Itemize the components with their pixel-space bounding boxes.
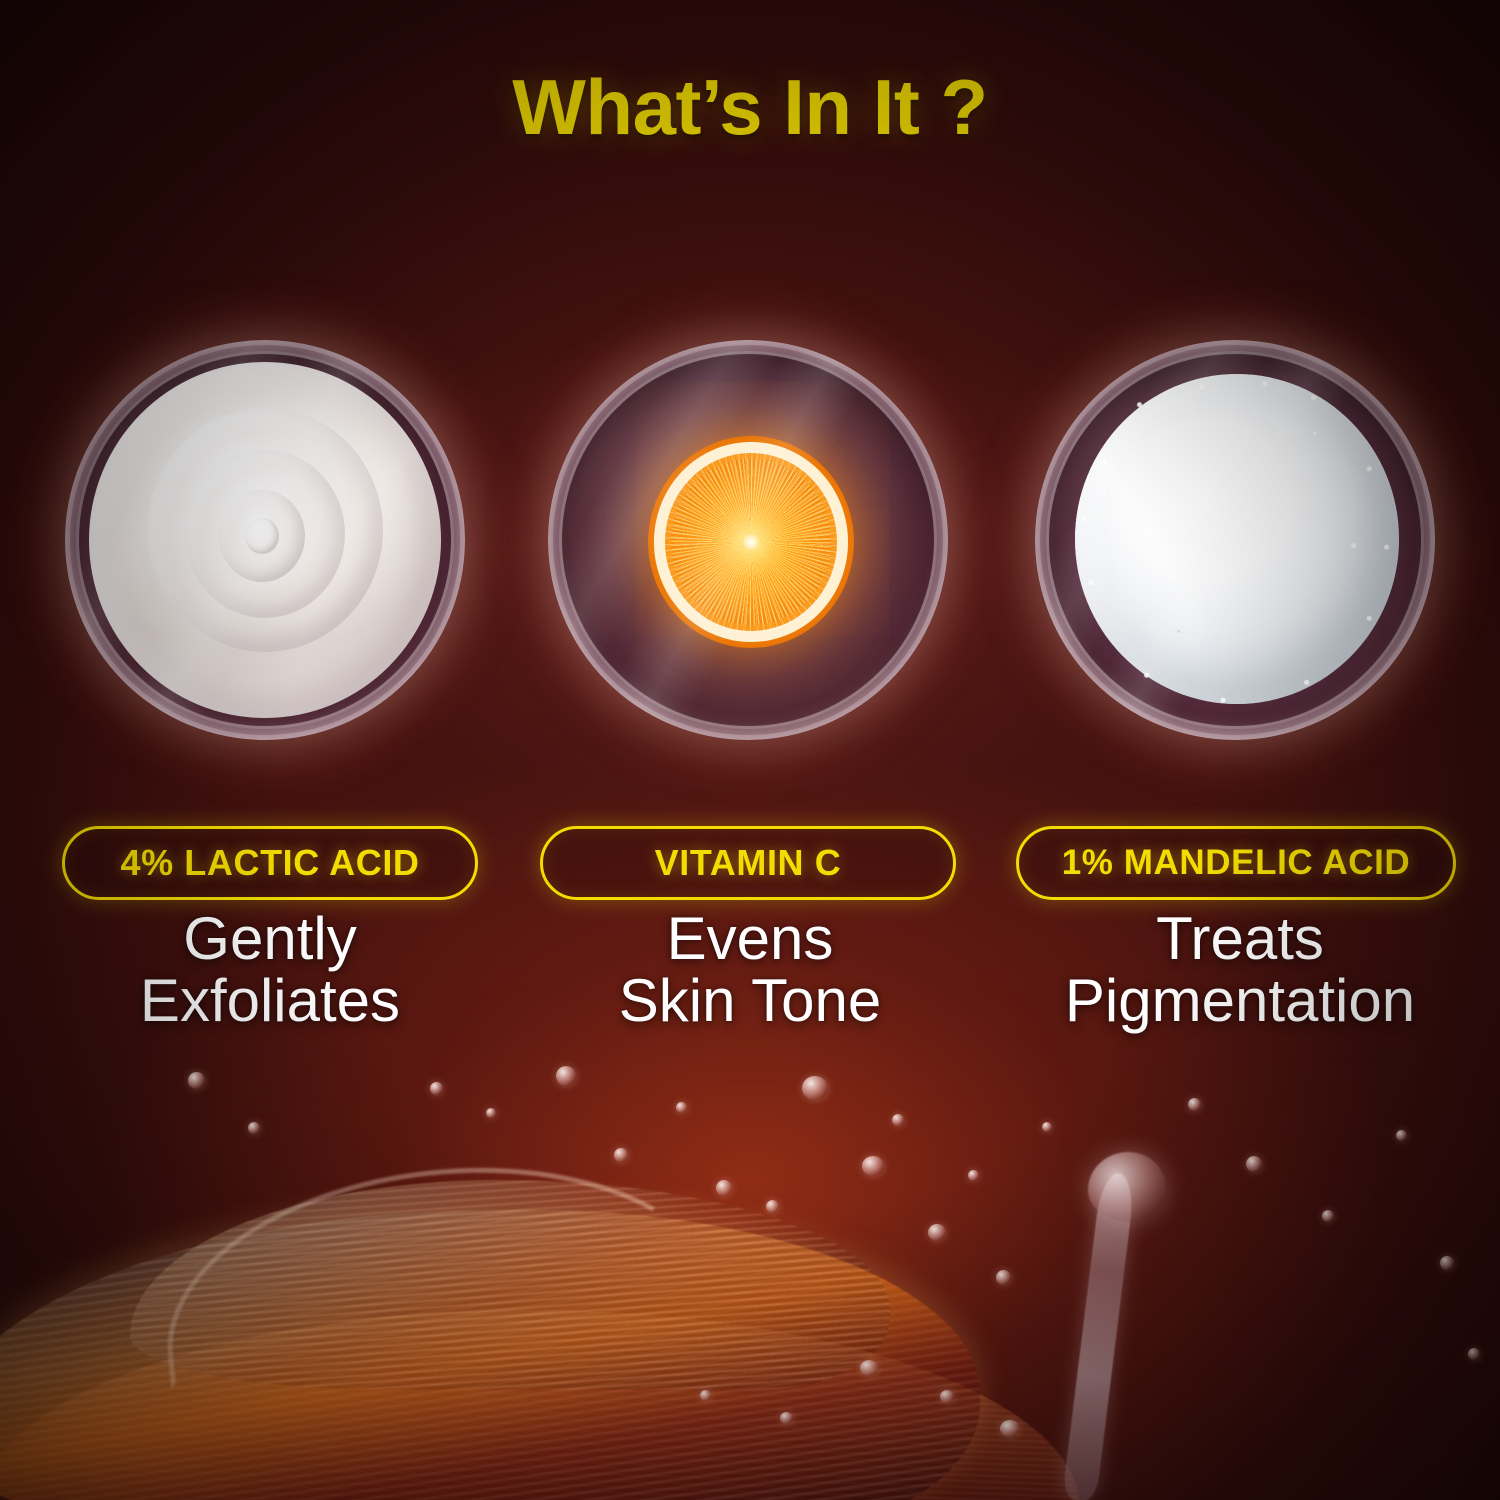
orange-slice-icon [648, 436, 854, 648]
droplet-icon [1396, 1130, 1407, 1141]
glass-bowl-icon [65, 340, 465, 740]
droplet-icon [996, 1270, 1011, 1285]
white-powder-icon [1075, 374, 1399, 704]
droplet-icon [716, 1180, 732, 1196]
droplet-icon [1042, 1122, 1052, 1132]
droplet-icon [1322, 1210, 1334, 1222]
cream-texture-icon [89, 362, 441, 718]
droplet-icon [248, 1122, 260, 1134]
droplet-icon [1000, 1420, 1020, 1437]
caption-mandelic-acid: Treats Pigmentation [1000, 908, 1480, 1032]
caption-line-1: Evens [520, 908, 980, 970]
droplet-icon [614, 1148, 628, 1162]
water-splash-decor [0, 1060, 1500, 1500]
glass-bowl-icon [548, 340, 948, 740]
droplet-icon [1440, 1256, 1454, 1270]
droplet-icon [1246, 1156, 1262, 1172]
droplet-icon [700, 1390, 711, 1401]
caption-line-1: Gently [40, 908, 500, 970]
caption-line-2: Skin Tone [520, 970, 980, 1032]
droplet-icon [780, 1412, 793, 1424]
badge-lactic-acid[interactable]: 4% LACTIC ACID [62, 826, 478, 900]
ingredient-bowl-vitamin-c [538, 330, 958, 750]
caption-line-2: Exfoliates [40, 970, 500, 1032]
droplet-icon [676, 1102, 687, 1113]
badge-vitamin-c[interactable]: VITAMIN C [540, 826, 956, 900]
droplet-icon [968, 1170, 979, 1181]
droplet-icon [802, 1076, 828, 1100]
poster-canvas: What’s In It ? [0, 0, 1500, 1500]
ingredient-bowl-lactic-acid [55, 330, 475, 750]
droplet-icon [486, 1108, 496, 1118]
caption-lactic-acid: Gently Exfoliates [40, 908, 500, 1032]
cream-swirl-peak-icon [245, 518, 279, 554]
droplet-icon [928, 1224, 946, 1241]
caption-line-2: Pigmentation [1000, 970, 1480, 1032]
droplet-icon [766, 1200, 779, 1213]
caption-vitamin-c: Evens Skin Tone [520, 908, 980, 1032]
droplet-icon [860, 1360, 878, 1376]
droplet-icon [1188, 1098, 1201, 1111]
glass-bowl-icon [1035, 340, 1435, 740]
ingredient-visuals [0, 330, 1500, 760]
droplet-icon [940, 1390, 954, 1403]
ingredient-badges: 4% LACTIC ACID VITAMIN C 1% MANDELIC ACI… [0, 826, 1500, 902]
droplet-icon [430, 1082, 443, 1095]
droplet-icon [556, 1066, 576, 1086]
page-title: What’s In It ? [0, 62, 1500, 153]
water-stream-head-icon [1088, 1152, 1166, 1222]
badge-mandelic-acid[interactable]: 1% MANDELIC ACID [1016, 826, 1456, 900]
ingredient-captions: Gently Exfoliates Evens Skin Tone Treats… [0, 908, 1500, 1078]
droplet-icon [1468, 1348, 1480, 1360]
droplet-icon [862, 1156, 884, 1176]
ingredient-bowl-mandelic-acid [1025, 330, 1445, 750]
caption-line-1: Treats [1000, 908, 1480, 970]
droplet-icon [188, 1072, 205, 1089]
droplet-icon [892, 1114, 904, 1126]
orange-pith-ring-icon [654, 442, 848, 641]
